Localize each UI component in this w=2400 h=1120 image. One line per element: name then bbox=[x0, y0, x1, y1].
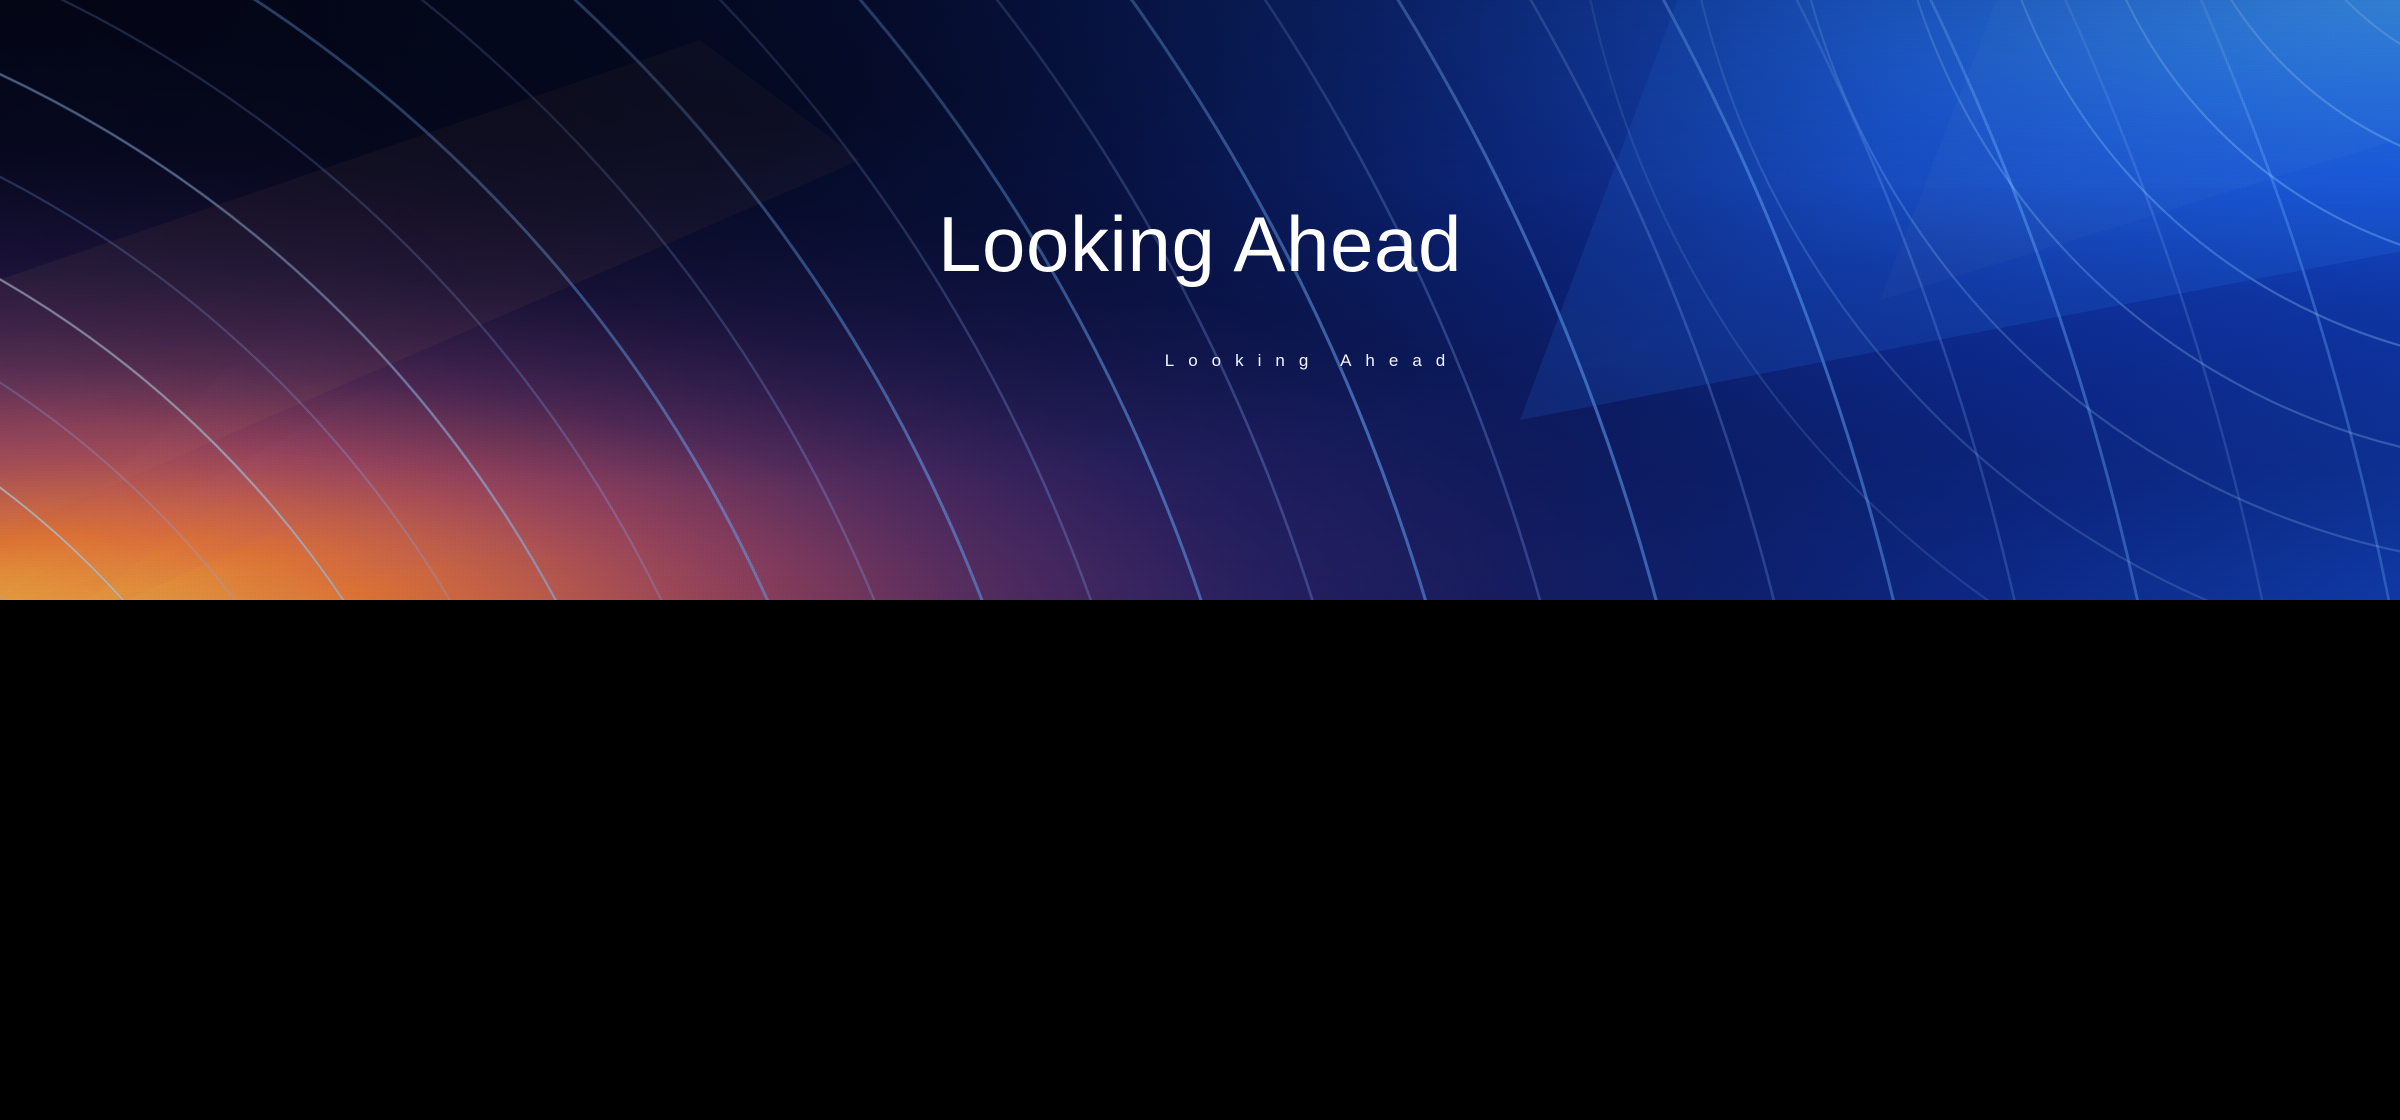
content-section: Looking Ahead At Shree Amar Raj Finance,… bbox=[0, 600, 2400, 1120]
page-root: Looking Ahead Looking Ahead Looking Ahea… bbox=[0, 0, 2400, 1120]
hero-banner: Looking Ahead Looking Ahead bbox=[0, 0, 2400, 600]
hero-text-block: Looking Ahead Looking Ahead bbox=[0, 0, 2400, 600]
hero-title: Looking Ahead bbox=[0, 205, 2400, 283]
hero-subtitle: Looking Ahead bbox=[0, 352, 2400, 369]
